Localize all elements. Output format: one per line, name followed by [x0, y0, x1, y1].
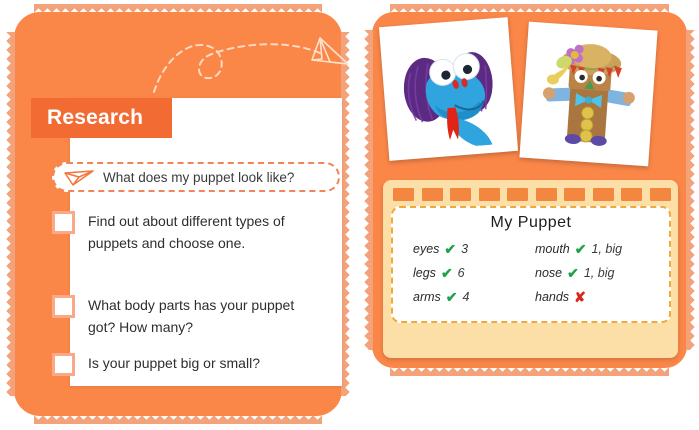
my-puppet-attributes-grid: eyes ✔ 3 legs ✔ 6 arms ✔ 4 mouth — [393, 237, 669, 309]
attribute-value-legs: 6 — [458, 266, 465, 280]
attribute-row-eyes: eyes ✔ 3 — [399, 237, 531, 261]
attributes-column-right: mouth ✔ 1, big nose ✔ 1, big hands ✘ — [531, 237, 663, 309]
my-puppet-title: My Puppet — [393, 214, 669, 232]
paper-bag-puppet-photo — [519, 22, 657, 167]
attribute-label-mouth: mouth — [535, 242, 570, 256]
attribute-label-eyes: eyes — [413, 242, 439, 256]
checklist-item-3[interactable]: Is your puppet big or small? — [52, 352, 332, 376]
examples-zigzag-top — [390, 4, 669, 13]
attribute-value-eyes: 3 — [461, 242, 468, 256]
attribute-value-arms: 4 — [463, 290, 470, 304]
research-tab-header: Research — [31, 98, 172, 138]
check-icon-mouth: ✔ — [575, 241, 587, 258]
checkbox-3[interactable] — [52, 353, 75, 376]
check-icon-nose: ✔ — [567, 265, 579, 282]
check-icon-arms: ✔ — [446, 289, 458, 306]
checkbox-1[interactable] — [52, 211, 75, 234]
examples-zigzag-bottom — [390, 367, 669, 376]
blue-monster-puppet-image — [388, 26, 510, 153]
checklist-item-1[interactable]: Find out about different types of puppet… — [52, 210, 322, 254]
attribute-row-arms: arms ✔ 4 — [399, 285, 531, 309]
examples-zigzag-left — [364, 30, 373, 350]
tab-dash — [507, 188, 528, 201]
attribute-value-nose: 1, big — [584, 266, 615, 280]
tab-dash — [650, 188, 671, 201]
check-icon-eyes: ✔ — [444, 241, 456, 258]
cross-icon-hands: ✘ — [574, 289, 586, 306]
check-icon-legs: ✔ — [441, 265, 453, 282]
tab-dash — [621, 188, 642, 201]
attribute-label-hands: hands — [535, 290, 569, 304]
tab-dash — [564, 188, 585, 201]
checkbox-2[interactable] — [52, 295, 75, 318]
checklist-label-3: Is your puppet big or small? — [88, 352, 260, 374]
paper-plane-icon — [63, 167, 97, 187]
attribute-label-nose: nose — [535, 266, 562, 280]
research-question-text: What does my puppet look like? — [97, 170, 294, 185]
tab-dash — [593, 188, 614, 201]
research-question-box[interactable]: What does my puppet look like? — [52, 162, 340, 192]
tab-dash — [536, 188, 557, 201]
tab-dash — [450, 188, 471, 201]
attribute-row-hands: hands ✘ — [531, 285, 663, 309]
tab-dash — [393, 188, 414, 201]
paper-bag-puppet-image — [528, 30, 649, 158]
panel-zigzag-left — [6, 32, 15, 396]
tab-dash — [479, 188, 500, 201]
worksheet-page: Research What does my puppet look like? … — [0, 0, 699, 430]
panel-zigzag-bottom — [34, 415, 322, 424]
my-puppet-note-card: My Puppet eyes ✔ 3 legs ✔ 6 arms ✔ 4 — [391, 206, 671, 323]
attributes-column-left: eyes ✔ 3 legs ✔ 6 arms ✔ 4 — [399, 237, 531, 309]
checklist-label-2: What body parts has your puppet got? How… — [88, 294, 303, 338]
attribute-label-arms: arms — [413, 290, 441, 304]
card-tab-strip — [393, 188, 671, 201]
blue-monster-puppet-photo — [379, 17, 518, 161]
checklist-item-2[interactable]: What body parts has your puppet got? How… — [52, 294, 322, 338]
paper-plane-trail-icon — [152, 26, 352, 104]
research-panel: Research What does my puppet look like? … — [14, 12, 342, 416]
panel-zigzag-top — [34, 4, 322, 13]
examples-zigzag-right — [686, 30, 695, 350]
attribute-label-legs: legs — [413, 266, 436, 280]
attribute-row-nose: nose ✔ 1, big — [531, 261, 663, 285]
attribute-row-legs: legs ✔ 6 — [399, 261, 531, 285]
tab-dash — [422, 188, 443, 201]
checklist-label-1: Find out about different types of puppet… — [88, 210, 303, 254]
research-tab-label: Research — [31, 98, 172, 138]
attribute-row-mouth: mouth ✔ 1, big — [531, 237, 663, 261]
attribute-value-mouth: 1, big — [591, 242, 622, 256]
